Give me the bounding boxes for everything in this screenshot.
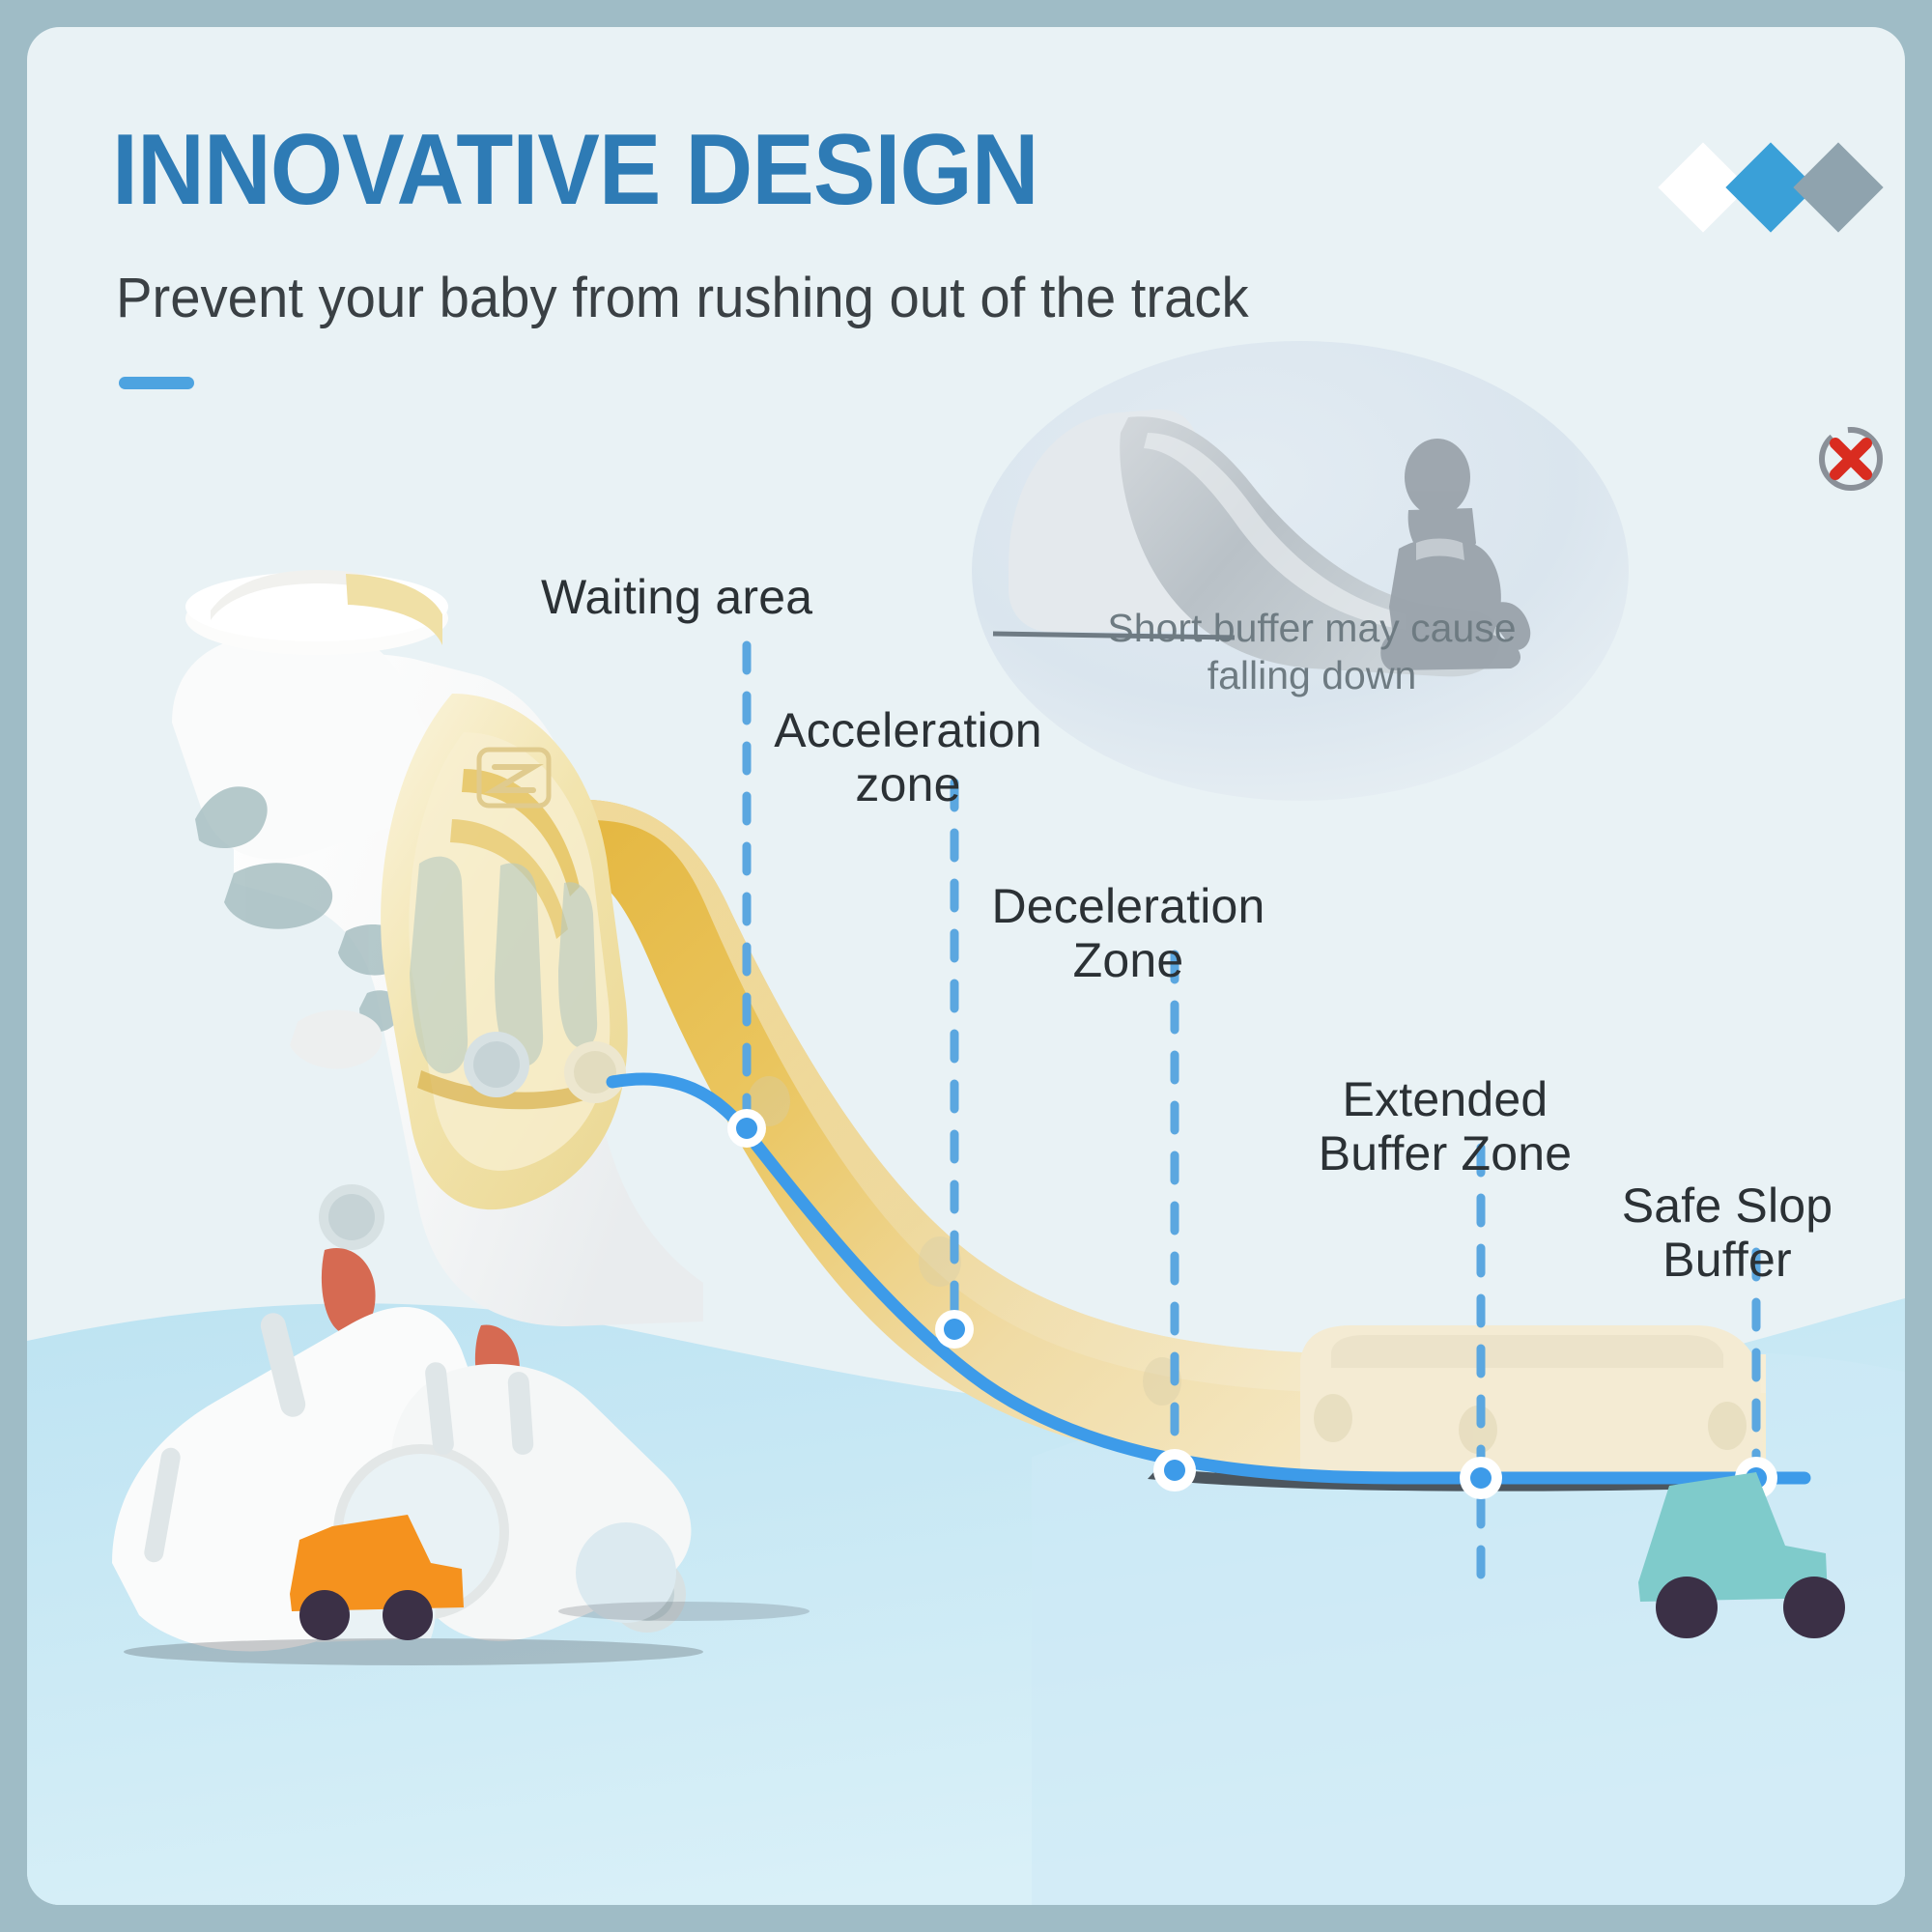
content-panel: INNOVATIVE DESIGN Prevent your baby from… bbox=[27, 27, 1905, 1905]
callout-label-acceleration-zone: Acceleration zone bbox=[715, 703, 1101, 811]
callout-label-safe-slop-buffer: Safe Slop Buffer bbox=[1544, 1179, 1905, 1287]
red-x-circle-icon bbox=[1822, 430, 1880, 488]
short-buffer-inset bbox=[972, 341, 1880, 801]
callout-label-waiting-area: Waiting area bbox=[541, 570, 812, 624]
diamond-gray-icon bbox=[1793, 142, 1883, 232]
callout-label-extended-buffer-zone: Extended Buffer Zone bbox=[1242, 1072, 1648, 1180]
diamond-decoration bbox=[1669, 148, 1905, 235]
accent-underline bbox=[119, 377, 194, 389]
inset-caption: Short buffer may cause falling down bbox=[1070, 605, 1553, 699]
page-subtitle: Prevent your baby from rushing out of th… bbox=[116, 270, 1249, 327]
page-title: INNOVATIVE DESIGN bbox=[112, 120, 1038, 220]
poster-root: INNOVATIVE DESIGN Prevent your baby from… bbox=[0, 0, 1932, 1932]
callout-label-deceleration-zone: Deceleration Zone bbox=[935, 879, 1321, 987]
